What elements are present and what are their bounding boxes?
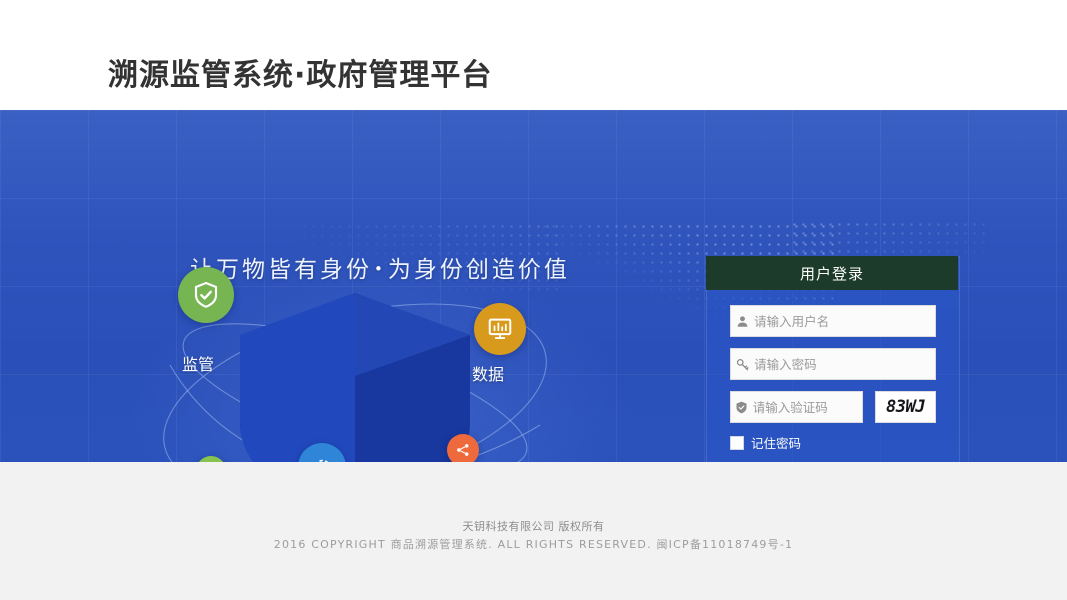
hero-illustration: 监管 数据 溯源 — [150, 275, 570, 462]
trace-clock-icon — [309, 454, 335, 462]
page-header: 溯源监管系统·政府管理平台 — [0, 0, 1067, 110]
page-footer: 天钥科技有限公司 版权所有 2016 COPYRIGHT 商品溯源管理系统. A… — [0, 462, 1067, 600]
captcha-field[interactable] — [730, 391, 863, 423]
footer-copyright: 2016 COPYRIGHT 商品溯源管理系统. ALL RIGHTS RESE… — [0, 536, 1067, 552]
login-panel-title: 用户登录 — [706, 256, 958, 290]
login-page: 溯源监管系统·政府管理平台 让万物皆有身份•为身份创造价值 — [0, 0, 1067, 600]
badge-互联互通 — [447, 434, 479, 462]
remember-password-checkbox[interactable] — [730, 436, 744, 450]
shield-check-icon — [191, 280, 221, 310]
shield-icon — [731, 400, 753, 415]
badge-数据 — [474, 303, 526, 355]
user-icon — [731, 314, 754, 329]
footer-company: 天钥科技有限公司 版权所有 — [0, 518, 1067, 534]
password-input[interactable] — [754, 349, 935, 379]
hero-banner: 让万物皆有身份•为身份创造价值 — [0, 110, 1067, 462]
monitor-chart-icon — [486, 315, 514, 343]
shield-graphic — [240, 293, 470, 462]
page-title: 溯源监管系统·政府管理平台 — [108, 50, 492, 94]
badge-label-监管: 监管 — [182, 351, 214, 375]
badge-label-数据: 数据 — [472, 361, 504, 385]
remember-password-label: 记住密码 — [751, 433, 801, 452]
username-field[interactable] — [730, 305, 936, 337]
captcha-image[interactable]: 83WJ — [875, 391, 936, 423]
username-input[interactable] — [754, 306, 935, 336]
share-nodes-icon — [454, 441, 472, 459]
remember-password-row[interactable]: 记住密码 — [730, 433, 801, 452]
key-icon — [731, 357, 754, 372]
password-field[interactable] — [730, 348, 936, 380]
badge-监管 — [178, 267, 234, 323]
captcha-input[interactable] — [753, 392, 862, 422]
